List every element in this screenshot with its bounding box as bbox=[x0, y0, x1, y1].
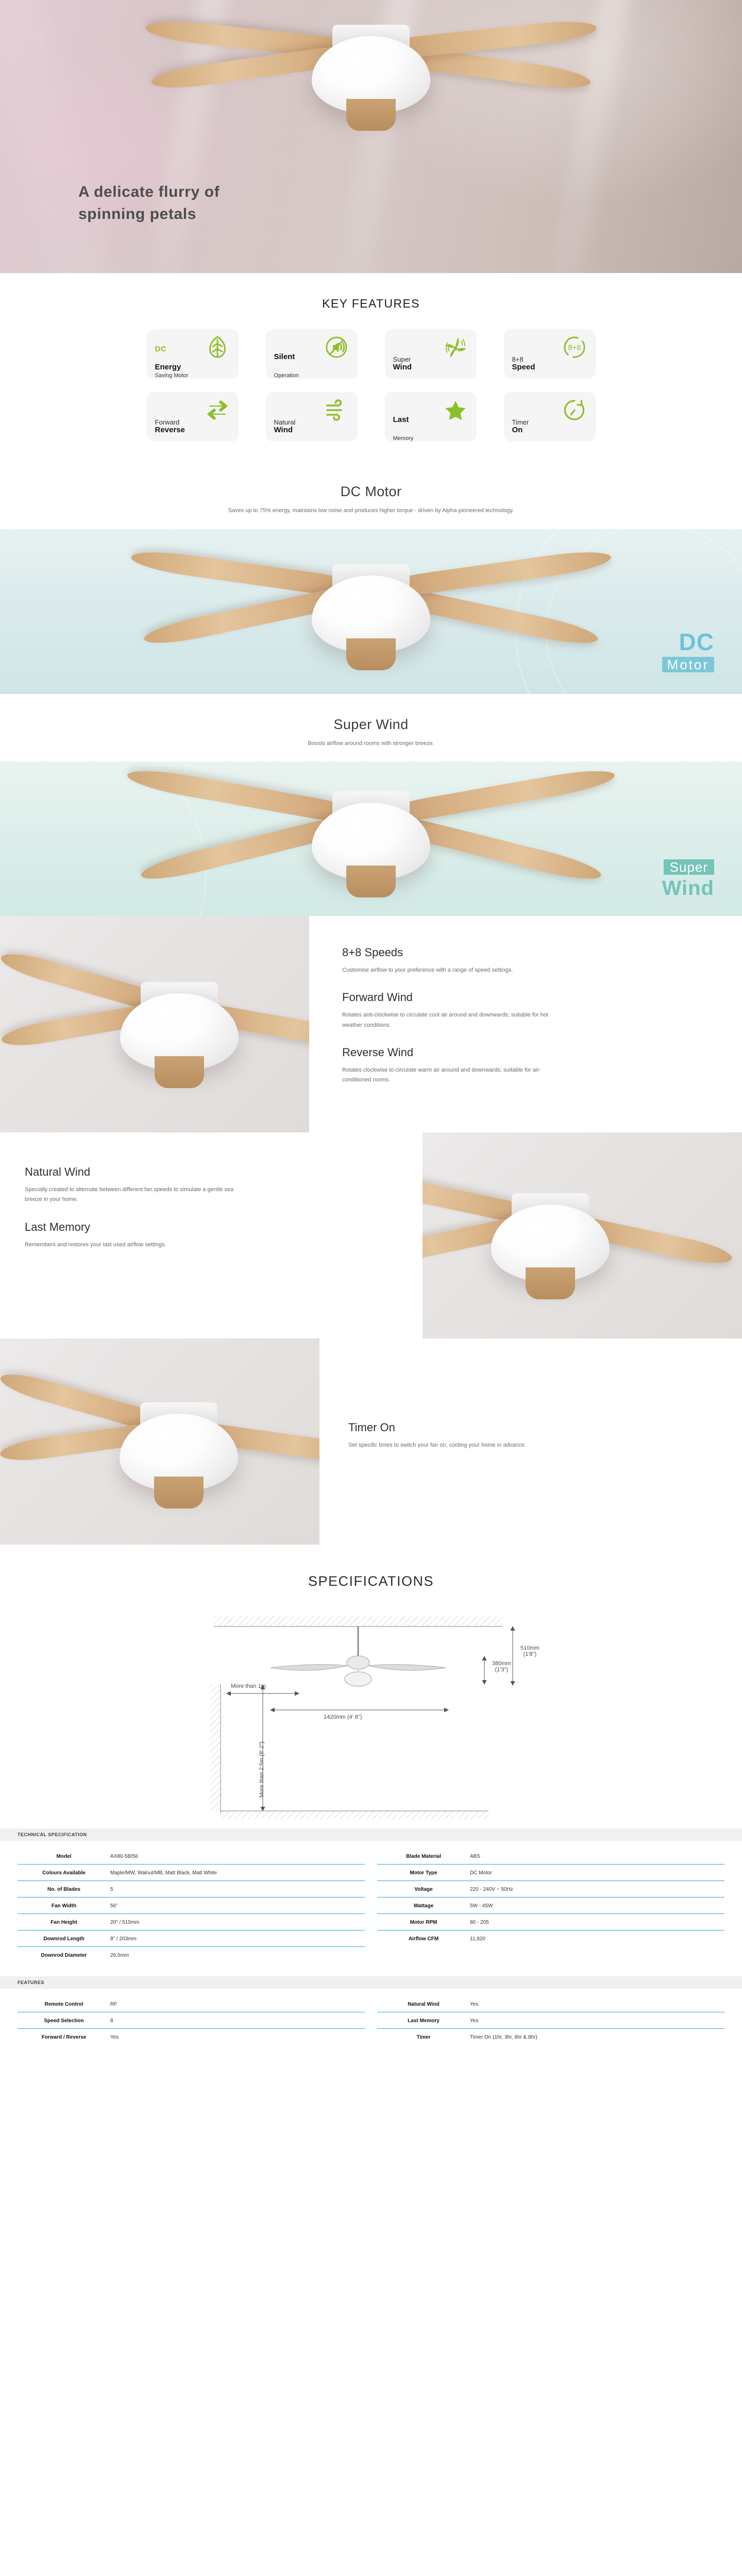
hero-banner: A delicate flurry of spinning petals bbox=[0, 0, 742, 273]
star-bookmark-icon bbox=[442, 396, 469, 424]
dc-motor-banner-image: DC Motor bbox=[0, 529, 742, 694]
dimension-diagram: 380mm (1'3") 510mm (1'8") 1420mm (4' 8")… bbox=[93, 1607, 649, 1828]
speeds-title-1: Forward Wind bbox=[342, 991, 711, 1004]
spec-value: Yes bbox=[470, 2018, 478, 2024]
spec-key: Timer bbox=[377, 2035, 470, 2040]
dim-width: 1420mm (4' 8") bbox=[324, 1714, 362, 1720]
table-row: No. of Blades5 bbox=[18, 1881, 365, 1897]
tech-table-left: ModelAX80-5B/56Colours AvailableMaple/MW… bbox=[18, 1848, 365, 1963]
super-wind-banner-image: Super Wind bbox=[0, 761, 742, 916]
spec-key: Last Memory bbox=[377, 2018, 470, 2024]
feature-main-label: Wind bbox=[274, 426, 293, 434]
spec-key: Forward / Reverse bbox=[18, 2035, 110, 2040]
feature-card-timer-on[interactable]: Timer On bbox=[504, 392, 596, 442]
feature-sub-label: Forward bbox=[155, 418, 180, 426]
table-row: Remote ControlRF bbox=[18, 1996, 365, 2012]
super-wind-desc: Boosts airflow around rooms with stronge… bbox=[0, 739, 742, 749]
spec-value: 11,920 bbox=[470, 1936, 485, 1942]
watermark-line-2: Wind bbox=[662, 878, 714, 899]
speeds-title-2: Reverse Wind bbox=[342, 1046, 711, 1059]
technical-specification-band: TECHNICAL SPECIFICATION bbox=[0, 1828, 742, 1841]
super-wind-watermark: Super Wind bbox=[662, 859, 714, 899]
dc-motor-title: DC Motor bbox=[0, 484, 742, 500]
dc-motor-heading-block: DC Motor Saves up to 75% energy, maintai… bbox=[0, 461, 742, 516]
timer-title-0: Timer On bbox=[348, 1421, 711, 1434]
speeds-panel-image bbox=[0, 916, 309, 1132]
feature-main-label: Wind bbox=[393, 363, 412, 371]
spec-value: 5 bbox=[110, 1887, 113, 1892]
spec-value: Yes bbox=[470, 2002, 478, 2007]
table-row: Downrod Length8" / 203mm bbox=[18, 1930, 365, 1947]
features-tables: Remote ControlRFSpeed Selection8Forward … bbox=[0, 1989, 742, 2058]
technical-specification-tables: ModelAX80-5B/56Colours AvailableMaple/MW… bbox=[0, 1841, 742, 1976]
table-row: Natural WindYes bbox=[377, 1996, 724, 2012]
feature-main-label: Speed bbox=[512, 363, 535, 371]
natural-wind-copy: Natural Wind Specially created to altern… bbox=[0, 1132, 423, 1338]
feature-card-dc-energy[interactable]: DC Energy Saving Motor bbox=[147, 329, 239, 379]
spec-key: Motor Type bbox=[377, 1870, 470, 1876]
hero-copy: A delicate flurry of spinning petals bbox=[78, 181, 220, 225]
fan-collar bbox=[346, 99, 396, 131]
svg-text:8+8: 8+8 bbox=[568, 344, 581, 352]
dim-height-body: 380mm (1'3") bbox=[492, 1660, 511, 1673]
features-table-left: Remote ControlRFSpeed Selection8Forward … bbox=[18, 1996, 365, 2045]
table-row: Downrod Diameter26.5mm bbox=[18, 1947, 365, 1963]
feature-sub-label: Timer bbox=[512, 418, 529, 426]
spec-key: Fan Height bbox=[18, 1920, 110, 1925]
natural-title-0: Natural Wind bbox=[25, 1165, 392, 1179]
dimension-diagram-svg bbox=[93, 1607, 649, 1828]
spec-key: Downrod Length bbox=[18, 1936, 110, 1942]
table-row: Motor RPM80 - 205 bbox=[377, 1914, 724, 1930]
spec-key: Wattage bbox=[377, 1903, 470, 1909]
natural-title-1: Last Memory bbox=[25, 1221, 392, 1234]
spec-key: Airflow CFM bbox=[377, 1936, 470, 1942]
feature-sub-label: Saving Motor bbox=[155, 372, 189, 379]
spec-key: Speed Selection bbox=[18, 2018, 110, 2024]
key-features-title: KEY FEATURES bbox=[0, 297, 742, 311]
spec-value: 26.5mm bbox=[110, 1953, 129, 1958]
table-row: TimerTimer On (1hr, 3hr, 6hr & 8hr) bbox=[377, 2029, 724, 2045]
spec-key: Blade Material bbox=[377, 1854, 470, 1859]
spec-key: Voltage bbox=[377, 1887, 470, 1892]
wind-lines-icon bbox=[323, 396, 350, 424]
feature-badge: DC bbox=[155, 345, 167, 353]
mute-speaker-icon bbox=[323, 333, 350, 361]
spec-value: RF bbox=[110, 2002, 117, 2007]
key-features-section: KEY FEATURES DC Energy Saving Motor Sile… bbox=[0, 273, 742, 461]
ceiling-fan-image bbox=[93, 0, 649, 196]
features-band: FEATURES bbox=[0, 1976, 742, 1989]
spec-value: Yes bbox=[110, 2035, 119, 2040]
hero-headline-line2: spinning petals bbox=[78, 206, 196, 223]
super-wind-title: Super Wind bbox=[0, 717, 742, 733]
spec-key: Remote Control bbox=[18, 2002, 110, 2007]
feature-main-label: On bbox=[512, 426, 523, 434]
feature-card-speed[interactable]: 8+8 8+8 Speed bbox=[504, 329, 596, 379]
tech-table-right: Blade MaterialABSMotor TypeDC MotorVolta… bbox=[377, 1848, 724, 1963]
feature-card-super-wind[interactable]: Super Wind bbox=[385, 329, 477, 379]
speeds-panel-copy: 8+8 Speeds Customise airflow to your pre… bbox=[309, 916, 742, 1132]
table-row: Speed Selection8 bbox=[18, 2012, 365, 2029]
spec-value: 8 bbox=[110, 2018, 113, 2024]
table-row: Wattage5W - 45W bbox=[377, 1897, 724, 1914]
spec-value: Maple/MW, Walnut/MB, Matt Black, Matt Wh… bbox=[110, 1870, 217, 1876]
super-wind-heading-block: Super Wind Boosts airflow around rooms w… bbox=[0, 694, 742, 749]
table-row: Airflow CFM11,920 bbox=[377, 1930, 724, 1946]
spec-key: Fan Width bbox=[18, 1903, 110, 1909]
spec-value: AX80-5B/56 bbox=[110, 1854, 138, 1859]
speeds-title-0: 8+8 Speeds bbox=[342, 946, 711, 959]
table-row: Last MemoryYes bbox=[377, 2012, 724, 2029]
dc-motor-section: DC Motor Saves up to 75% energy, maintai… bbox=[0, 461, 742, 694]
table-row: Fan Width56" bbox=[18, 1897, 365, 1914]
spec-key: Motor RPM bbox=[377, 1920, 470, 1925]
feature-sub-label: Silent bbox=[274, 352, 295, 361]
feature-card-forward-reverse[interactable]: Forward Reverse bbox=[147, 392, 239, 442]
spec-value: 8" / 203mm bbox=[110, 1936, 137, 1942]
natural-desc-1: Remembers and restores your last used ai… bbox=[25, 1240, 241, 1250]
spec-value: Timer On (1hr, 3hr, 6hr & 8hr) bbox=[470, 2035, 537, 2040]
feature-sub-label: Super bbox=[393, 355, 411, 363]
watermark-line-1: Super bbox=[664, 859, 714, 875]
watermark-line-2: Motor bbox=[662, 657, 714, 672]
dim-clearance-floor: More than 2.5m (8' 2") bbox=[259, 1741, 265, 1798]
dc-motor-desc: Saves up to 75% energy, maintains low no… bbox=[0, 506, 742, 516]
table-row: Colours AvailableMaple/MW, Walnut/MB, Ma… bbox=[18, 1865, 365, 1881]
feature-card-silent[interactable]: Silent Operation bbox=[266, 329, 358, 379]
spec-key: Natural Wind bbox=[377, 2002, 470, 2007]
feature-main-label: Operation bbox=[274, 372, 299, 379]
timer-icon bbox=[561, 396, 588, 424]
spec-key: Colours Available bbox=[18, 1870, 110, 1876]
feature-main-label: Reverse bbox=[155, 426, 185, 434]
table-row: Fan Height20" / 510mm bbox=[18, 1914, 365, 1930]
watermark-line-1: DC bbox=[662, 630, 714, 654]
natural-desc-0: Specially created to alternate between d… bbox=[25, 1185, 241, 1205]
feature-sub-label: 8+8 bbox=[512, 355, 524, 363]
timer-panel-copy: Timer On Set specific times to switch yo… bbox=[319, 1338, 742, 1545]
spec-value: 80 - 205 bbox=[470, 1920, 489, 1925]
specifications-section: SPECIFICATIONS bbox=[0, 1545, 742, 2058]
forward-reverse-arrows-icon bbox=[204, 396, 231, 424]
natural-wind-panel: Natural Wind Specially created to altern… bbox=[0, 1132, 742, 1338]
key-features-grid: DC Energy Saving Motor Silent Operation … bbox=[139, 329, 603, 442]
feature-card-last-memory[interactable]: Last Memory bbox=[385, 392, 477, 442]
eight-plus-eight-dial-icon: 8+8 bbox=[561, 333, 588, 361]
fan-blade-icon bbox=[442, 333, 469, 361]
speeds-panel: 8+8 Speeds Customise airflow to your pre… bbox=[0, 916, 742, 1132]
speeds-desc-1: Rotates anti-clockwise to circulate cool… bbox=[342, 1010, 559, 1030]
spec-value: 56" bbox=[110, 1903, 118, 1909]
hero-headline-line1: A delicate flurry of bbox=[78, 183, 220, 200]
feature-card-natural-wind[interactable]: Natural Wind bbox=[266, 392, 358, 442]
product-page: A delicate flurry of spinning petals KEY… bbox=[0, 0, 742, 2058]
spec-value: DC Motor bbox=[470, 1870, 492, 1876]
features-table-right: Natural WindYesLast MemoryYesTimerTimer … bbox=[377, 1996, 724, 2045]
spec-value: ABS bbox=[470, 1854, 480, 1859]
dim-height-total: 510mm (1'8") bbox=[520, 1645, 539, 1657]
spec-value: 5W - 45W bbox=[470, 1903, 493, 1909]
natural-wind-image bbox=[423, 1132, 742, 1338]
table-row: ModelAX80-5B/56 bbox=[18, 1848, 365, 1865]
table-row: Motor TypeDC Motor bbox=[377, 1865, 724, 1881]
specifications-title: SPECIFICATIONS bbox=[0, 1573, 742, 1589]
super-wind-section: Super Wind Boosts airflow around rooms w… bbox=[0, 694, 742, 917]
spec-value: 220 - 240V ~ 50Hz bbox=[470, 1887, 513, 1892]
dim-clearance-side: More than 1m bbox=[231, 1683, 266, 1689]
feature-sub-label: Last bbox=[393, 415, 409, 424]
spec-value: 20" / 510mm bbox=[110, 1920, 139, 1925]
feature-main-label: Memory bbox=[393, 435, 414, 442]
spec-key: Model bbox=[18, 1854, 110, 1859]
spec-key: No. of Blades bbox=[18, 1887, 110, 1892]
feature-sub-label: Natural bbox=[274, 418, 296, 426]
feature-main-label: Energy bbox=[155, 363, 181, 371]
leaf-icon bbox=[204, 333, 231, 361]
speeds-desc-2: Rotates clockwise to circulate warm air … bbox=[342, 1065, 559, 1086]
speeds-desc-0: Customise airflow to your preference wit… bbox=[342, 965, 559, 975]
timer-panel-image bbox=[0, 1338, 319, 1545]
table-row: Blade MaterialABS bbox=[377, 1848, 724, 1865]
timer-desc-0: Set specific times to switch your fan on… bbox=[348, 1440, 565, 1450]
table-row: Voltage220 - 240V ~ 50Hz bbox=[377, 1881, 724, 1897]
dc-motor-watermark: DC Motor bbox=[662, 630, 714, 672]
timer-panel: Timer On Set specific times to switch yo… bbox=[0, 1338, 742, 1545]
spec-key: Downrod Diameter bbox=[18, 1953, 110, 1958]
table-row: Forward / ReverseYes bbox=[18, 2029, 365, 2045]
